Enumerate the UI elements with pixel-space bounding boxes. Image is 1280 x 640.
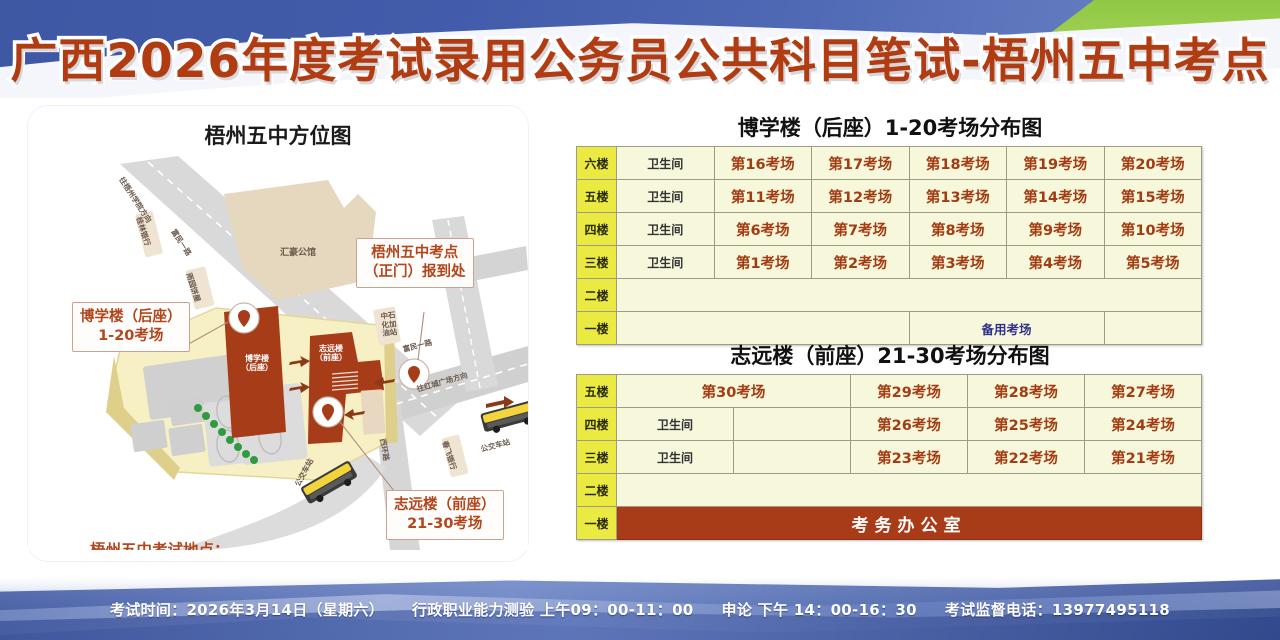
cell-exam-room: 第19考场: [1007, 147, 1105, 180]
callout-boxue-line1: 博学楼（后座）: [80, 309, 182, 325]
callout-main-gate-checkin: 梧州五中考点 （正门）报到处: [356, 238, 474, 288]
floor-label: 六楼: [577, 147, 617, 180]
callout-zhiyuan-line1: 志远楼（前座）: [394, 497, 496, 513]
cell-restroom: 卫生间: [617, 180, 715, 213]
cell-exam-room: 第4考场: [1007, 246, 1105, 279]
cell-exam-room: 第24考场: [1085, 408, 1202, 441]
cell-exam-room: 第28考场: [968, 375, 1085, 408]
cell-exam-room: 第13考场: [909, 180, 1007, 213]
footer-subject-2: 申论 下午 14：00-16：30: [722, 599, 917, 620]
cell-empty: [734, 441, 851, 474]
table-row: 二楼: [577, 279, 1202, 312]
cell-restroom: 卫生间: [617, 408, 734, 441]
cell-exam-room: 第21考场: [1085, 441, 1202, 474]
table-body-zhiyuan: 五楼第30考场第29考场第28考场第27考场四楼卫生间第26考场第25考场第24…: [577, 375, 1202, 540]
floor-label: 四楼: [577, 408, 617, 441]
cell-restroom: 卫生间: [617, 213, 715, 246]
floor-label: 五楼: [577, 180, 617, 213]
cell-exam-room: 第11考场: [714, 180, 812, 213]
footer-exam-time: 考试时间：2026年3月14日（星期六）: [110, 599, 384, 620]
table-row: 一楼考务办公室: [577, 507, 1202, 540]
cell-exam-room: 第20考场: [1104, 147, 1202, 180]
cell-exam-room: 第17考场: [812, 147, 910, 180]
cell-exam-room: 第6考场: [714, 213, 812, 246]
map-pin-boxue: [229, 303, 259, 333]
floor-label: 一楼: [577, 507, 617, 540]
header-banner: 广西2026年度考试录用公务员公共科目笔试-梧州五中考点: [0, 0, 1280, 98]
map-address: 梧州五中考试地点： 广西梧州市万秀区富民一路19号: [90, 538, 313, 550]
cell-restroom: 卫生间: [617, 147, 715, 180]
map-label-boxue-building: 博学楼（后座）: [234, 354, 280, 372]
map-address-label: 梧州五中考试地点：: [90, 538, 313, 550]
cell-exam-room: 第9考场: [1007, 213, 1105, 246]
exam-room-table-boxue: 六楼卫生间第16考场第17考场第18考场第19考场第20考场五楼卫生间第11考场…: [576, 146, 1202, 345]
callout-gate-line2: （正门）报到处: [364, 264, 466, 280]
page-title: 广西2026年度考试录用公务员公共科目笔试-梧州五中考点: [0, 22, 1280, 91]
callout-zhiyuan-building: 志远楼（前座） 21-30考场: [386, 490, 504, 540]
cell-exam-room: 第8考场: [909, 213, 1007, 246]
map-label-zhiyuan-building: 志远楼（前座）: [310, 344, 352, 362]
table-row: 六楼卫生间第16考场第17考场第18考场第19考场第20考场: [577, 147, 1202, 180]
map-title: 梧州五中方位图: [28, 120, 528, 150]
map-pin-zhiyuan: [313, 397, 343, 427]
floor-label: 二楼: [577, 279, 617, 312]
map-label-huihao-mansion: 汇豪公馆: [280, 248, 316, 258]
map-label-sinopec-station: 中石化加油站: [377, 311, 402, 339]
callout-boxue-building: 博学楼（后座） 1-20考场: [72, 302, 190, 352]
floor-label: 五楼: [577, 375, 617, 408]
cell-empty: [617, 474, 1202, 507]
cell-exam-room: 第15考场: [1104, 180, 1202, 213]
cell-exam-room: 第18考场: [909, 147, 1007, 180]
cell-exam-room: 第29考场: [851, 375, 968, 408]
table-row: 三楼卫生间第23考场第22考场第21考场: [577, 441, 1202, 474]
cell-exam-room: 第22考场: [968, 441, 1085, 474]
exam-room-table-zhiyuan: 五楼第30考场第29考场第28考场第27考场四楼卫生间第26考场第25考场第24…: [576, 374, 1202, 540]
floor-label: 三楼: [577, 246, 617, 279]
cell-exam-room: 第16考场: [714, 147, 812, 180]
cell-exam-room: 第26考场: [851, 408, 968, 441]
table-row: 三楼卫生间第1考场第2考场第3考场第4考场第5考场: [577, 246, 1202, 279]
cell-exam-room: 第2考场: [812, 246, 910, 279]
cell-exam-room: 第27考场: [1085, 375, 1202, 408]
footer-banner: 考试时间：2026年3月14日（星期六） 行政职业能力测验 上午09：00-11…: [0, 578, 1280, 640]
table-row: 四楼卫生间第6考场第7考场第8考场第9考场第10考场: [577, 213, 1202, 246]
cell-restroom: 卫生间: [617, 246, 715, 279]
cell-exam-room: 第1考场: [714, 246, 812, 279]
callout-gate-line1: 梧州五中考点: [371, 245, 458, 261]
cell-exam-office: 考务办公室: [617, 507, 1202, 540]
table-row: 二楼: [577, 474, 1202, 507]
callout-boxue-line2: 1-20考场: [98, 328, 163, 344]
cell-exam-room: 第30考场: [617, 375, 851, 408]
table-body-boxue: 六楼卫生间第16考场第17考场第18考场第19考场第20考场五楼卫生间第11考场…: [577, 147, 1202, 345]
cell-exam-room: 第3考场: [909, 246, 1007, 279]
table-row: 五楼卫生间第11考场第12考场第13考场第14考场第15考场: [577, 180, 1202, 213]
cell-exam-room: 第7考场: [812, 213, 910, 246]
cell-exam-room: 第12考场: [812, 180, 910, 213]
cell-exam-room: 第25考场: [968, 408, 1085, 441]
floor-label: 二楼: [577, 474, 617, 507]
cell-empty: [617, 279, 1202, 312]
table-row: 四楼卫生间第26考场第25考场第24考场: [577, 408, 1202, 441]
floor-label: 三楼: [577, 441, 617, 474]
cell-restroom: 卫生间: [617, 441, 734, 474]
callout-zhiyuan-line2: 21-30考场: [407, 516, 482, 532]
map-panel: 梧州五中方位图: [28, 106, 528, 561]
footer-info: 考试时间：2026年3月14日（星期六） 行政职业能力测验 上午09：00-11…: [0, 578, 1280, 640]
table-row: 五楼第30考场第29考场第28考场第27考场: [577, 375, 1202, 408]
cell-empty: [734, 408, 851, 441]
footer-supervise-phone: 考试监督电话：13977495118: [945, 599, 1170, 620]
cell-exam-room: 第23考场: [851, 441, 968, 474]
map-canvas: 往梧州学院方向 富民一路 桂林银行 汇豪公馆 雨园饼屋 中石化加油站 富民一路 …: [28, 150, 528, 550]
table-title-boxue: 博学楼（后座）1-20考场分布图: [570, 112, 1210, 142]
cell-exam-room: 第10考场: [1104, 213, 1202, 246]
cell-exam-room: 第5考场: [1104, 246, 1202, 279]
footer-subject-1: 行政职业能力测验 上午09：00-11：00: [412, 599, 694, 620]
floor-label: 四楼: [577, 213, 617, 246]
cell-exam-room: 第14考场: [1007, 180, 1105, 213]
table-title-zhiyuan: 志远楼（前座）21-30考场分布图: [570, 340, 1210, 370]
